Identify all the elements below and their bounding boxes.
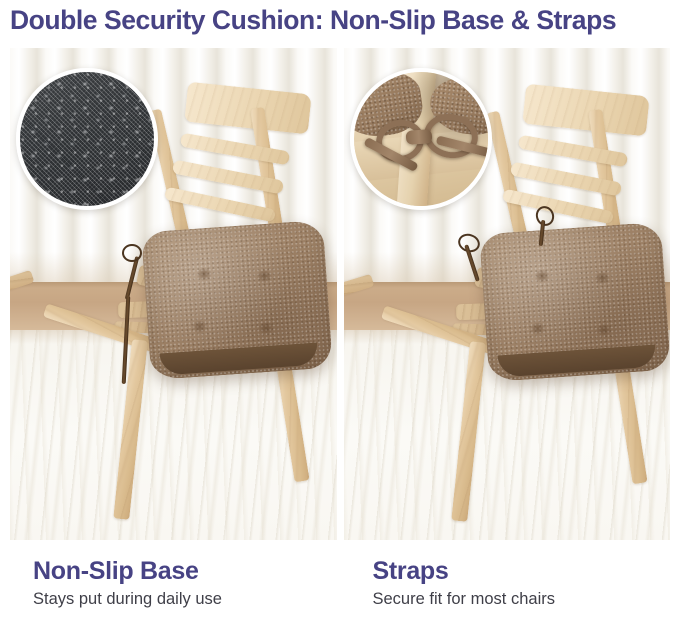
strap-knot-closeup	[405, 129, 432, 145]
cushion-tuft	[258, 322, 275, 336]
cushion-tuft	[533, 270, 550, 284]
panel-non-slip-base	[10, 48, 337, 540]
product-feature-image: Double Security Cushion: Non-Slip Base &…	[0, 0, 679, 631]
panel-straps	[344, 48, 671, 540]
straps-closeup-inset	[350, 68, 492, 210]
chair-back-slat-1	[180, 133, 291, 166]
feature-title: Straps	[373, 556, 679, 586]
chair-crest-rail	[184, 82, 312, 135]
cushion-tuft	[196, 268, 213, 282]
chair-crest-rail	[522, 84, 650, 137]
feature-title: Non-Slip Base	[33, 556, 340, 586]
feature-non-slip-base: Non-Slip Base Stays put during daily use	[0, 556, 340, 631]
cushion-tuft	[191, 320, 208, 334]
cushion-tuft	[529, 322, 546, 336]
grip-dot-pattern-offset	[20, 72, 154, 206]
feature-straps: Straps Secure fit for most chairs	[340, 556, 679, 631]
cushion-tuft	[256, 269, 273, 283]
feature-subtitle: Secure fit for most chairs	[373, 586, 679, 612]
feature-subtitle: Stays put during daily use	[33, 586, 340, 612]
chair-front-leg-center	[451, 341, 486, 522]
photo-panel-group	[10, 48, 670, 540]
cushion-tuft	[595, 324, 612, 338]
non-slip-base-closeup-inset	[16, 68, 158, 210]
page-title: Double Security Cushion: Non-Slip Base &…	[10, 3, 672, 37]
cushion-tuft	[593, 271, 610, 285]
chair-rear-leg-left	[344, 274, 374, 324]
cushion-tie-loop	[122, 244, 142, 262]
chair-front-leg-center	[113, 339, 148, 520]
chair-rear-leg-left	[10, 270, 35, 324]
feature-caption-group: Non-Slip Base Stays put during daily use…	[0, 556, 679, 631]
chair-back-slat-1	[517, 135, 628, 168]
